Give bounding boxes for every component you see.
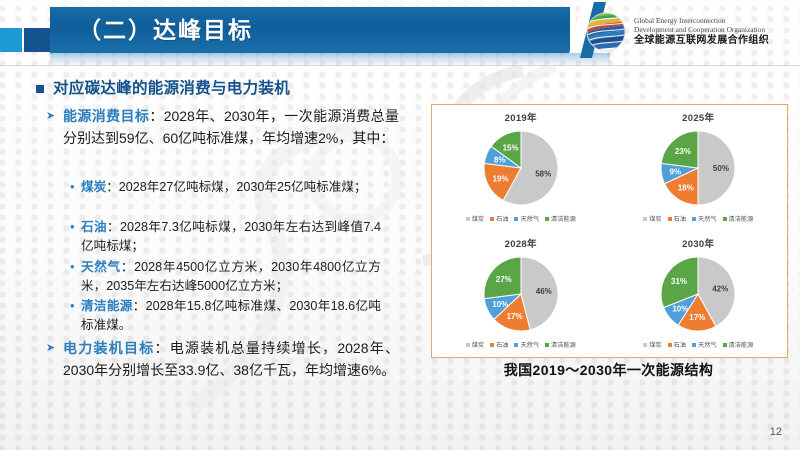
dot-bullet-icon: • — [70, 218, 75, 236]
pie-chart-canvas: 50%18%9%23% — [650, 125, 746, 213]
chart-panel: 2019年58%19%8%15%煤炭石油天然气清洁能源2025年50%18%9%… — [431, 104, 788, 358]
bullet-energy-consumption-text: 能源消费目标：2028年、2030年，一次能源消费总量分别达到59亿、60亿吨标… — [63, 106, 399, 149]
sub-bullet-oil: • 石油：2028年7.3亿吨标煤，2030年左右达到峰值7.4亿吨标煤； — [70, 218, 381, 256]
sub-bullet-coal: • 煤炭：2028年27亿吨标煤，2030年25亿吨标准煤； — [70, 178, 381, 197]
logo-en-line2: Development and Cooperation Organization — [634, 26, 769, 35]
pie-slice-label: 17% — [506, 312, 522, 321]
pie-chart-title: 2025年 — [682, 110, 714, 124]
dot-bullet-icon: • — [70, 178, 75, 196]
pie-chart-title: 2019年 — [505, 110, 537, 124]
legend-label: 石油 — [496, 214, 508, 223]
legend-label: 煤炭 — [649, 214, 661, 223]
legend-swatch-icon — [545, 343, 549, 347]
pie-chart-2019年: 2019年58%19%8%15%煤炭石油天然气清洁能源 — [432, 105, 610, 231]
legend-label: 清洁能源 — [729, 340, 754, 349]
pie-slice-label: 17% — [690, 313, 706, 322]
legend-swatch-icon — [643, 217, 647, 221]
sub-bullet-clean-energy-keyword: 清洁能源 — [81, 299, 133, 313]
pie-slice-label: 46% — [536, 287, 552, 296]
pie-slice-label: 9% — [670, 168, 682, 177]
legend-label: 天然气 — [698, 214, 717, 223]
legend-item-清洁能源: 清洁能源 — [545, 340, 576, 349]
legend-swatch-icon — [545, 217, 549, 221]
legend-label: 天然气 — [520, 340, 539, 349]
legend-item-天然气: 天然气 — [692, 214, 717, 223]
pie-chart-legend: 煤炭石油天然气清洁能源 — [466, 214, 576, 223]
sub-bullet-gas-text: 天然气：2028年4500亿立方米，2030年4800亿立方米，2035年左右达… — [81, 258, 381, 296]
bullet-power-capacity-keyword: 电力装机目标 — [63, 340, 154, 356]
bullet-energy-consumption-keyword: 能源消费目标 — [63, 108, 149, 124]
arrow-bullet-icon: ➤ — [46, 107, 56, 126]
pie-chart-legend: 煤炭石油天然气清洁能源 — [643, 214, 753, 223]
pie-slice-label: 15% — [502, 144, 518, 153]
header-accent-square-light — [0, 28, 22, 52]
legend-item-煤炭: 煤炭 — [466, 340, 484, 349]
sub-bullet-gas: • 天然气：2028年4500亿立方米，2030年4800亿立方米，2035年左… — [70, 258, 381, 296]
sub-bullet-oil-text: 石油：2028年7.3亿吨标煤，2030年左右达到峰值7.4亿吨标煤； — [81, 218, 381, 256]
legend-item-石油: 石油 — [668, 214, 686, 223]
legend-item-天然气: 天然气 — [514, 340, 539, 349]
organization-logo: Global Energy Interconnection Developmen… — [585, 6, 797, 58]
legend-swatch-icon — [668, 217, 672, 221]
logo-text-block: Global Energy Interconnection Developmen… — [634, 17, 769, 47]
legend-swatch-icon — [668, 343, 672, 347]
sub-bullet-oil-keyword: 石油 — [81, 220, 107, 234]
pie-chart-title: 2030年 — [682, 236, 714, 250]
legend-swatch-icon — [643, 343, 647, 347]
pie-chart-2028年: 2028年46%17%10%27%煤炭石油天然气清洁能源 — [432, 231, 610, 357]
pie-slice-label: 50% — [713, 164, 729, 173]
legend-swatch-icon — [514, 217, 518, 221]
legend-item-煤炭: 煤炭 — [643, 214, 661, 223]
dot-bullet-icon: • — [70, 258, 75, 276]
legend-label: 石油 — [674, 340, 686, 349]
legend-label: 煤炭 — [472, 340, 484, 349]
pie-slice-label: 27% — [496, 275, 512, 284]
legend-item-天然气: 天然气 — [692, 340, 717, 349]
sub-bullet-clean-energy: • 清洁能源：2028年15.8亿吨标准煤、2030年18.6亿吨标准煤。 — [70, 297, 381, 335]
legend-swatch-icon — [723, 217, 727, 221]
legend-swatch-icon — [466, 217, 470, 221]
pie-chart-legend: 煤炭石油天然气清洁能源 — [643, 340, 753, 349]
pie-chart-canvas: 58%19%8%15% — [473, 125, 569, 213]
legend-swatch-icon — [692, 343, 696, 347]
globe-icon — [585, 11, 627, 53]
logo-cn-line: 全球能源互联网发展合作组织 — [634, 35, 769, 47]
square-bullet-icon — [36, 85, 44, 93]
legend-label: 清洁能源 — [729, 214, 754, 223]
pie-chart-title: 2028年 — [505, 236, 537, 250]
legend-swatch-icon — [692, 217, 696, 221]
page-number: 12 — [770, 426, 782, 438]
legend-item-清洁能源: 清洁能源 — [723, 340, 754, 349]
pie-slice-label: 18% — [678, 183, 694, 192]
pie-slice-label: 19% — [492, 174, 508, 183]
legend-swatch-icon — [490, 217, 494, 221]
section-heading-label: 对应碳达峰的能源消费与电力装机 — [53, 78, 290, 100]
sub-bullet-coal-text: 煤炭：2028年27亿吨标煤，2030年25亿吨标准煤； — [81, 178, 381, 197]
chart-grid: 2019年58%19%8%15%煤炭石油天然气清洁能源2025年50%18%9%… — [432, 105, 787, 357]
pie-chart-2025年: 2025年50%18%9%23%煤炭石油天然气清洁能源 — [610, 105, 788, 231]
sub-bullet-coal-keyword: 煤炭 — [81, 180, 106, 194]
slide-canvas: （二）达峰目标 — [0, 0, 800, 450]
legend-label: 石油 — [674, 214, 686, 223]
pie-slice-label: 8% — [494, 156, 506, 165]
legend-label: 煤炭 — [472, 214, 484, 223]
legend-item-石油: 石油 — [490, 340, 508, 349]
sub-bullet-clean-energy-text: 清洁能源：2028年15.8亿吨标准煤、2030年18.6亿吨标准煤。 — [81, 297, 381, 335]
legend-label: 天然气 — [698, 340, 717, 349]
bullet-energy-consumption: ➤ 能源消费目标：2028年、2030年，一次能源消费总量分别达到59亿、60亿… — [46, 106, 406, 149]
sub-bullet-gas-keyword: 天然气 — [81, 260, 121, 274]
arrow-bullet-icon: ➤ — [46, 339, 56, 358]
slide-body-text: 对应碳达峰的能源消费与电力装机 ➤ 能源消费目标：2028年、2030年，一次能… — [0, 66, 425, 426]
slide-header: （二）达峰目标 — [0, 0, 800, 66]
pie-chart-canvas: 46%17%10%27% — [473, 251, 569, 339]
legend-item-煤炭: 煤炭 — [643, 340, 661, 349]
legend-swatch-icon — [490, 343, 494, 347]
bullet-power-capacity: ➤ 电力装机目标：电源装机总量持续增长，2028年、2030年分别增长至33.9… — [46, 338, 406, 381]
legend-item-清洁能源: 清洁能源 — [723, 214, 754, 223]
legend-item-煤炭: 煤炭 — [466, 214, 484, 223]
legend-label: 清洁能源 — [551, 214, 576, 223]
pie-slice-label: 10% — [673, 305, 689, 314]
page-title: （二）达峰目标 — [78, 16, 253, 44]
sub-bullet-gas-body: ：2028年4500亿立方米，2030年4800亿立方米，2035年左右达峰50… — [81, 260, 381, 293]
legend-label: 石油 — [496, 340, 508, 349]
pie-slice-label: 58% — [535, 170, 551, 179]
chart-caption: 我国2019～2030年一次能源结构 — [431, 360, 786, 380]
legend-swatch-icon — [514, 343, 518, 347]
sub-bullet-coal-body: ：2028年27亿吨标煤，2030年25亿吨标准煤； — [106, 180, 366, 194]
bullet-power-capacity-text: 电力装机目标：电源装机总量持续增长，2028年、2030年分别增长至33.9亿、… — [63, 338, 399, 381]
legend-label: 清洁能源 — [551, 340, 576, 349]
legend-item-石油: 石油 — [490, 214, 508, 223]
pie-chart-canvas: 42%17%10%31% — [650, 251, 746, 339]
legend-item-石油: 石油 — [668, 340, 686, 349]
legend-label: 煤炭 — [649, 340, 661, 349]
legend-item-清洁能源: 清洁能源 — [545, 214, 576, 223]
legend-item-天然气: 天然气 — [514, 214, 539, 223]
pie-chart-2030年: 2030年42%17%10%31%煤炭石油天然气清洁能源 — [610, 231, 788, 357]
dot-bullet-icon: • — [70, 297, 75, 315]
legend-swatch-icon — [723, 343, 727, 347]
legend-swatch-icon — [466, 343, 470, 347]
pie-slice-label: 31% — [671, 277, 687, 286]
pie-slice-label: 23% — [675, 147, 691, 156]
sub-bullet-oil-body: ：2028年7.3亿吨标煤，2030年左右达到峰值7.4亿吨标煤； — [81, 220, 381, 253]
section-heading: 对应碳达峰的能源消费与电力装机 — [36, 78, 406, 100]
legend-label: 天然气 — [520, 214, 539, 223]
pie-slice-label: 10% — [492, 300, 508, 309]
pie-slice-label: 42% — [712, 284, 728, 293]
pie-chart-legend: 煤炭石油天然气清洁能源 — [466, 340, 576, 349]
